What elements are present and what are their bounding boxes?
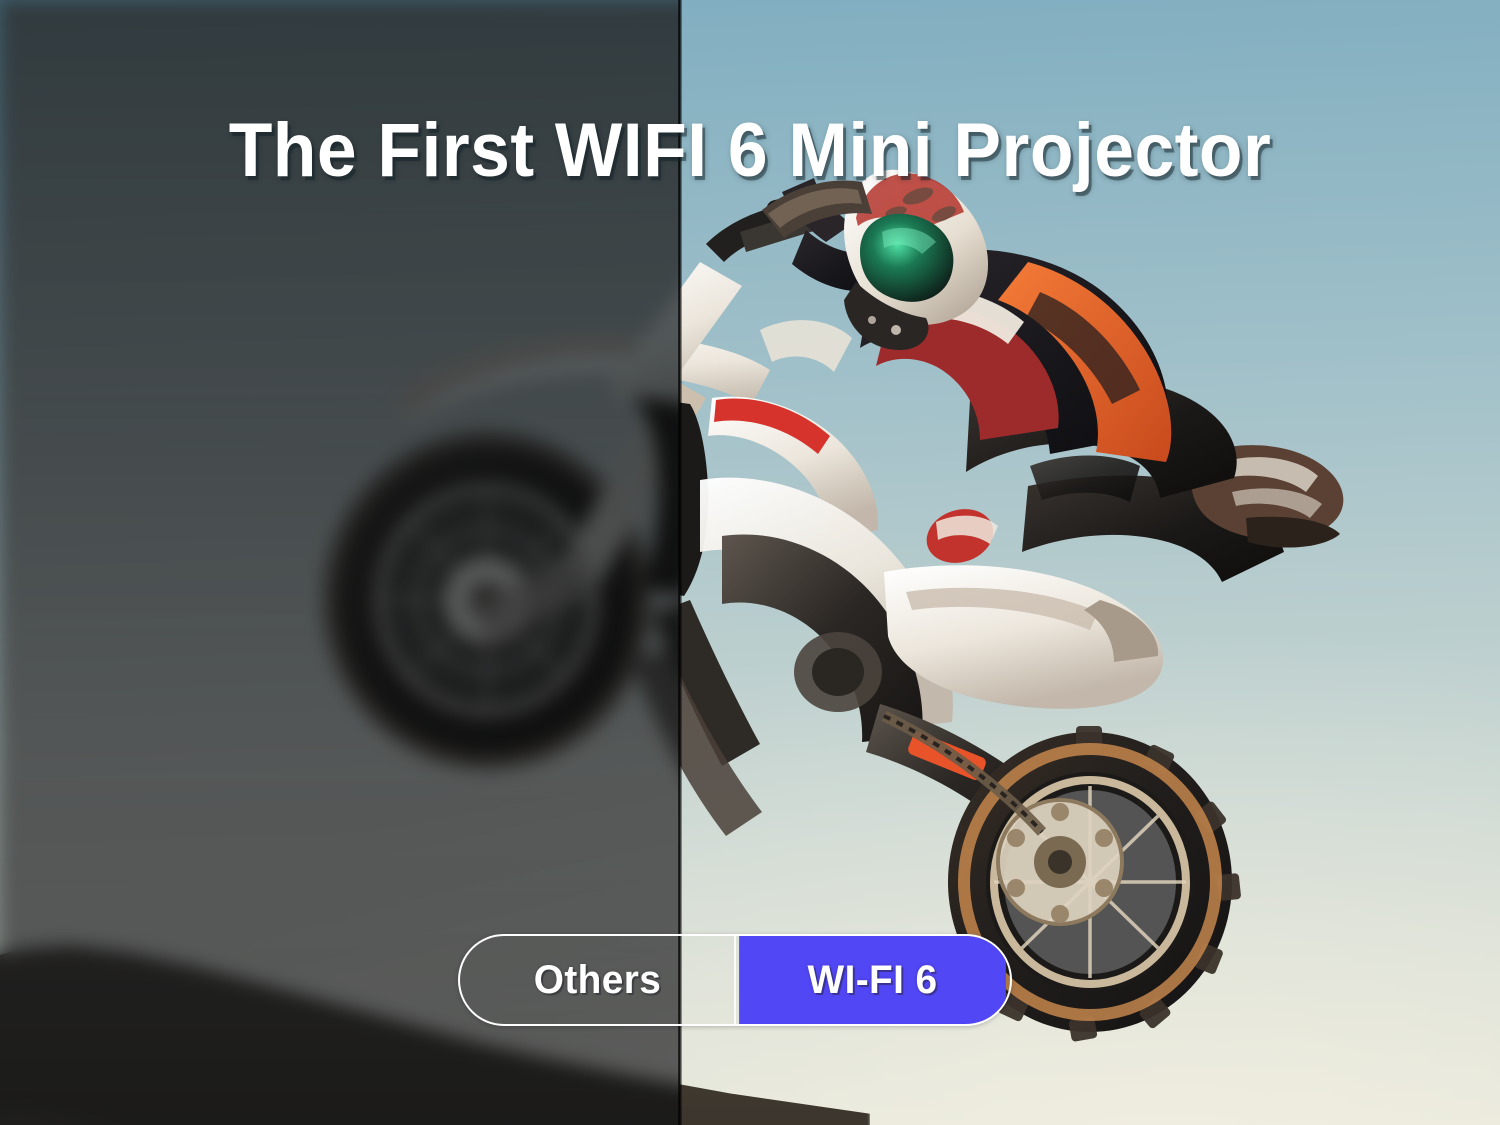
page-title: The First WIFI 6 Mini Projector [45, 107, 1455, 194]
toggle-divider [734, 936, 736, 1024]
toggle-option-others[interactable]: Others [464, 936, 731, 1024]
comparison-toggle[interactable]: Others WI-FI 6 [458, 934, 1012, 1026]
promo-banner: The First WIFI 6 Mini Projector Others W… [0, 0, 1500, 1125]
toggle-option-wifi6[interactable]: WI-FI 6 [739, 936, 1006, 1024]
number-plate [760, 320, 852, 372]
